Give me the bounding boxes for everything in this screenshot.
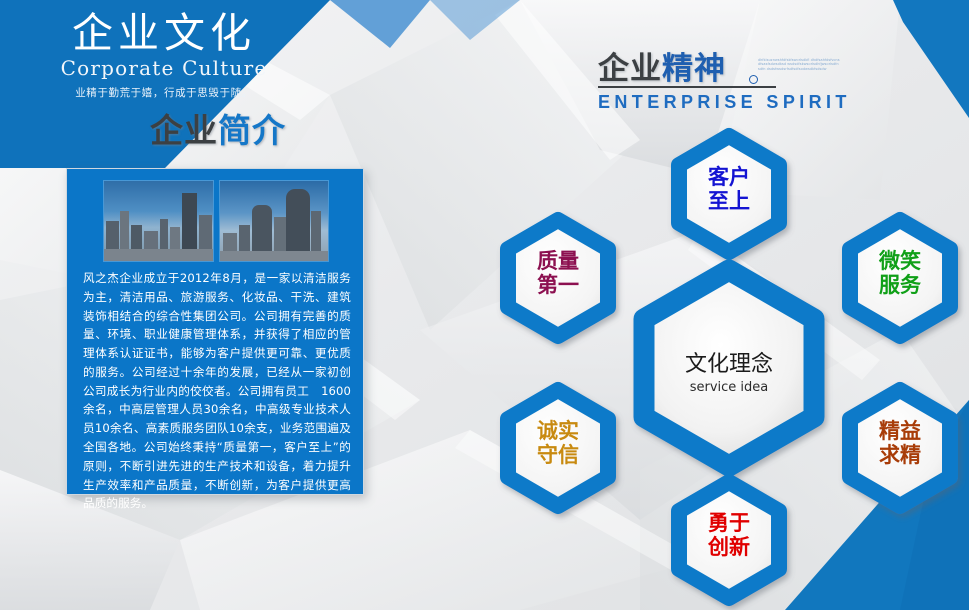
intro-title-dark: 企业 xyxy=(150,112,218,149)
center-label-cn: 文化理念 xyxy=(669,346,789,378)
hexagon-top xyxy=(679,136,779,252)
twin-towers-photo xyxy=(219,180,330,262)
company-intro-title: 企业简介 xyxy=(150,114,286,147)
company-intro-body: 风之杰企业成立于2012年8月，是一家以清洁服务为主，清洁用品、旅游服务、化妆品… xyxy=(83,269,351,513)
company-intro-card: 风之杰企业成立于2012年8月，是一家以清洁服务为主，清洁用品、旅游服务、化妆品… xyxy=(66,168,364,495)
photo-strip xyxy=(103,180,329,260)
hexagon-lower-left xyxy=(508,390,608,506)
intro-title-blue: 简介 xyxy=(218,112,286,149)
hexagon-lower-right xyxy=(850,390,950,506)
enterprise-spirit-title: 企业精神 ENTERPRISE SPIRIT dhfklsuznwshfdfsk… xyxy=(598,53,851,113)
spirit-title-blue: 精神 xyxy=(662,51,726,86)
spirit-title-dark: 企业 xyxy=(598,51,662,86)
spirit-underline xyxy=(598,86,776,88)
hexagon-upper-left xyxy=(508,220,608,336)
spirit-micro-text: dhfklsuznwshfdfskfsworlsdkfl dhdfsahfdsf… xyxy=(758,58,840,71)
slide-canvas: 企业文化 Corporate Culture 业精于勤荒于嬉，行成于思毁于随。 … xyxy=(0,0,969,610)
city-skyline-photo xyxy=(103,180,214,262)
hexagon-upper-right xyxy=(850,220,950,336)
spirit-title-en: ENTERPRISE SPIRIT xyxy=(598,92,851,113)
hexagon-bottom xyxy=(679,482,779,598)
center-label-en: service idea xyxy=(669,380,789,395)
culture-hexagon-diagram: 文化理念 service idea 客户 至上 质量 第一 微笑 服务 诚实 守… xyxy=(490,118,969,610)
spirit-dot-decoration xyxy=(749,75,758,84)
